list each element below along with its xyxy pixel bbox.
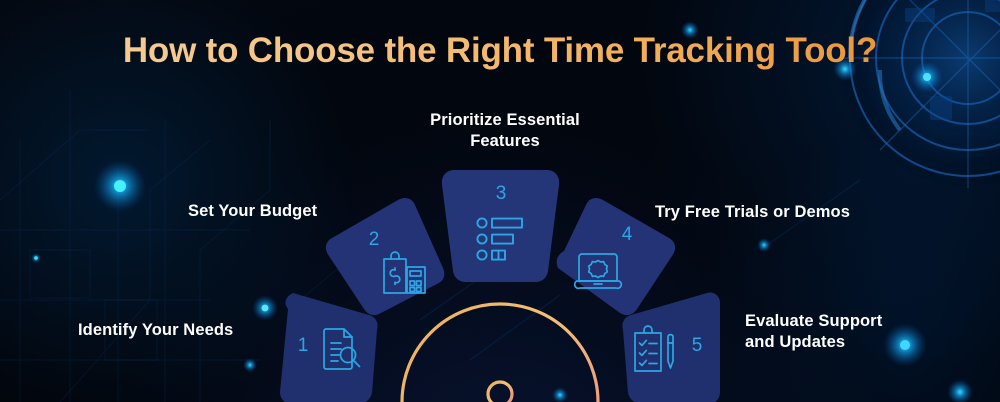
step-number-2: 2 (369, 229, 380, 250)
step-petal-2[interactable]: 2 (326, 198, 444, 315)
step-petal-5[interactable]: 5 (622, 293, 720, 402)
step-label-2: Set Your Budget (188, 201, 317, 222)
infographic-canvas: 1 2 (0, 0, 1000, 402)
step-petal-3[interactable]: 3 (442, 170, 559, 282)
step-number-1: 1 (298, 335, 309, 356)
clock-hub (488, 382, 512, 402)
page-title: How to Choose the Right Time Tracking To… (0, 31, 1000, 71)
step-label-4: Try Free Trials or Demos (655, 202, 850, 223)
step-label-5-line2: and Updates (745, 332, 945, 353)
step-petal-1[interactable]: 1 (280, 293, 378, 402)
step-label-3: Prioritize Essential Features (330, 110, 680, 152)
step-label-5-line1: Evaluate Support (745, 311, 945, 332)
step-label-1: Identify Your Needs (78, 320, 233, 341)
step-number-4: 4 (622, 224, 633, 245)
step-label-3-line2: Features (330, 131, 680, 152)
step-label-5: Evaluate Support and Updates (745, 311, 945, 353)
step-label-3-line1: Prioritize Essential (330, 110, 680, 131)
step-number-3: 3 (496, 183, 507, 204)
clock (402, 304, 598, 402)
step-number-5: 5 (692, 335, 703, 356)
